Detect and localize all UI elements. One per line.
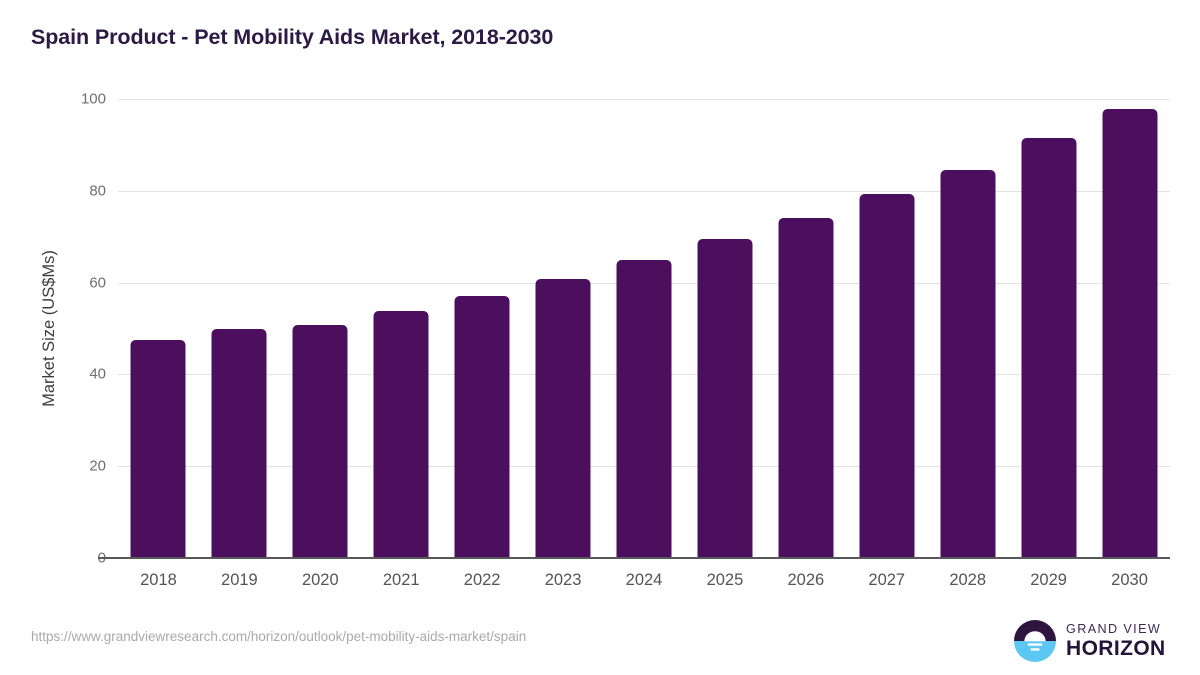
x-tick-label: 2029 bbox=[1030, 571, 1067, 590]
bar-slot bbox=[1089, 99, 1170, 558]
brand-line-grand-view: GRAND VIEW bbox=[1066, 623, 1166, 636]
bar[interactable] bbox=[1021, 138, 1076, 558]
x-tick-label: 2026 bbox=[787, 571, 824, 590]
bar-slot bbox=[280, 99, 361, 558]
bar-slot bbox=[927, 99, 1008, 558]
chart-title: Spain Product - Pet Mobility Aids Market… bbox=[31, 25, 553, 50]
bar[interactable] bbox=[536, 279, 591, 558]
bar[interactable] bbox=[212, 329, 267, 558]
y-tick-label: 20 bbox=[89, 458, 106, 475]
bar-slot bbox=[118, 99, 199, 558]
bar[interactable] bbox=[859, 194, 914, 558]
bar[interactable] bbox=[697, 239, 752, 558]
x-tick-label: 2021 bbox=[383, 571, 420, 590]
bar-slot bbox=[199, 99, 280, 558]
y-tick-label: 100 bbox=[81, 91, 106, 108]
bar-slot bbox=[604, 99, 685, 558]
bar-slot bbox=[361, 99, 442, 558]
source-url[interactable]: https://www.grandviewresearch.com/horizo… bbox=[31, 629, 526, 644]
x-tick-label: 2025 bbox=[707, 571, 744, 590]
bars-layer bbox=[118, 99, 1170, 558]
brand-line-horizon: HORIZON bbox=[1066, 638, 1166, 659]
bar-slot bbox=[1008, 99, 1089, 558]
bar-slot bbox=[846, 99, 927, 558]
y-tick-label: 80 bbox=[89, 182, 106, 199]
x-tick-label: 2023 bbox=[545, 571, 582, 590]
y-axis-title: Market Size (US$Ms) bbox=[38, 99, 60, 558]
bar[interactable] bbox=[616, 260, 671, 558]
bar-slot bbox=[684, 99, 765, 558]
bar-slot bbox=[442, 99, 523, 558]
bar[interactable] bbox=[940, 170, 995, 558]
x-tick-label: 2024 bbox=[626, 571, 663, 590]
bar[interactable] bbox=[455, 296, 510, 558]
x-tick-label: 2030 bbox=[1111, 571, 1148, 590]
bar-slot bbox=[765, 99, 846, 558]
x-tick-label: 2027 bbox=[868, 571, 905, 590]
brand-logo: GRAND VIEW HORIZON bbox=[1013, 618, 1171, 664]
bar-slot bbox=[523, 99, 604, 558]
brand-wordmark: GRAND VIEW HORIZON bbox=[1066, 623, 1166, 660]
bar[interactable] bbox=[293, 325, 348, 558]
plot-area: 020406080100 201820192020202120222023202… bbox=[118, 99, 1170, 558]
x-tick-label: 2020 bbox=[302, 571, 339, 590]
bar[interactable] bbox=[778, 218, 833, 558]
x-axis-line bbox=[98, 557, 1170, 559]
y-tick-label: 60 bbox=[89, 274, 106, 291]
x-tick-label: 2022 bbox=[464, 571, 501, 590]
bar[interactable] bbox=[1102, 109, 1157, 558]
chart-card: Spain Product - Pet Mobility Aids Market… bbox=[0, 0, 1200, 675]
grand-view-horizon-logo-icon bbox=[1013, 619, 1057, 663]
x-tick-label: 2018 bbox=[140, 571, 177, 590]
x-tick-label: 2019 bbox=[221, 571, 258, 590]
x-tick-label: 2028 bbox=[949, 571, 986, 590]
y-tick-label: 40 bbox=[89, 366, 106, 383]
bar[interactable] bbox=[131, 340, 186, 558]
bar[interactable] bbox=[374, 311, 429, 558]
